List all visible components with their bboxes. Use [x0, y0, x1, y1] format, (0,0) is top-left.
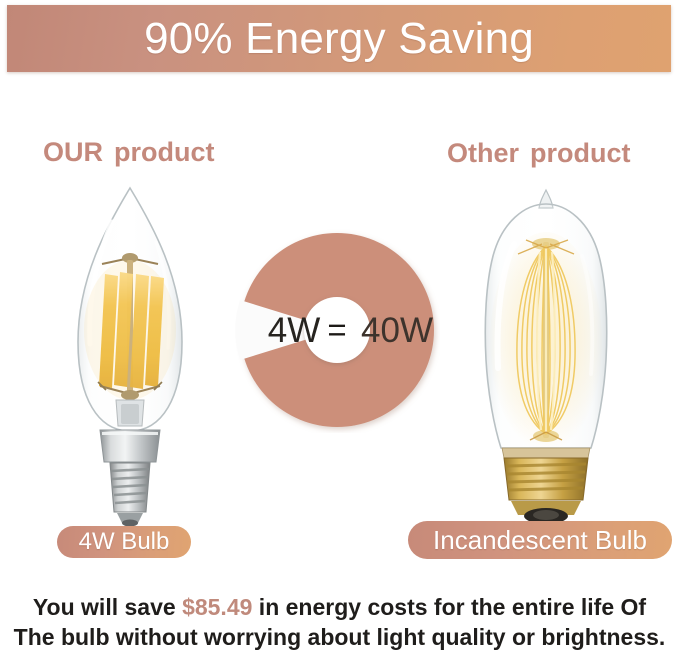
our-wattage-label: 4W — [268, 311, 321, 350]
other-product-heading-word2: product — [530, 138, 631, 168]
equals-sign: = — [327, 311, 346, 348]
our-product-heading-word1: OUR — [43, 137, 103, 167]
left-caption-label: 4W Bulb — [79, 528, 170, 556]
right-caption-pill: Incandescent Bulb — [408, 521, 672, 559]
right-caption-label: Incandescent Bulb — [433, 525, 647, 556]
left-caption-pill: 4W Bulb — [57, 526, 191, 558]
watt-equivalence-pie-chart: = 4W 40W — [234, 227, 440, 433]
savings-footer-line2: The bulb without worrying about light qu… — [0, 622, 679, 652]
header-banner: 90% Energy Saving — [7, 5, 671, 72]
other-wattage-label: 40W — [361, 311, 433, 350]
other-product-heading-word1: Other — [447, 138, 519, 168]
led-bulb-screw-base — [110, 463, 150, 527]
savings-footer: You will save $85.49 in energy costs for… — [0, 592, 679, 652]
other-product-heading: Otherproduct — [447, 140, 631, 167]
savings-price: $85.49 — [182, 594, 252, 620]
our-product-heading-word2: product — [114, 137, 215, 167]
our-product-heading: OURproduct — [43, 139, 215, 166]
page-title: 90% Energy Saving — [144, 17, 534, 61]
incandescent-bulb-image — [462, 182, 630, 527]
savings-text-before: You will save — [33, 594, 182, 620]
incandescent-screw-base — [502, 448, 590, 524]
savings-text-after: in energy costs for the entire life Of — [252, 594, 646, 620]
savings-footer-line1: You will save $85.49 in energy costs for… — [0, 592, 679, 622]
led-candle-bulb-image — [52, 182, 208, 527]
